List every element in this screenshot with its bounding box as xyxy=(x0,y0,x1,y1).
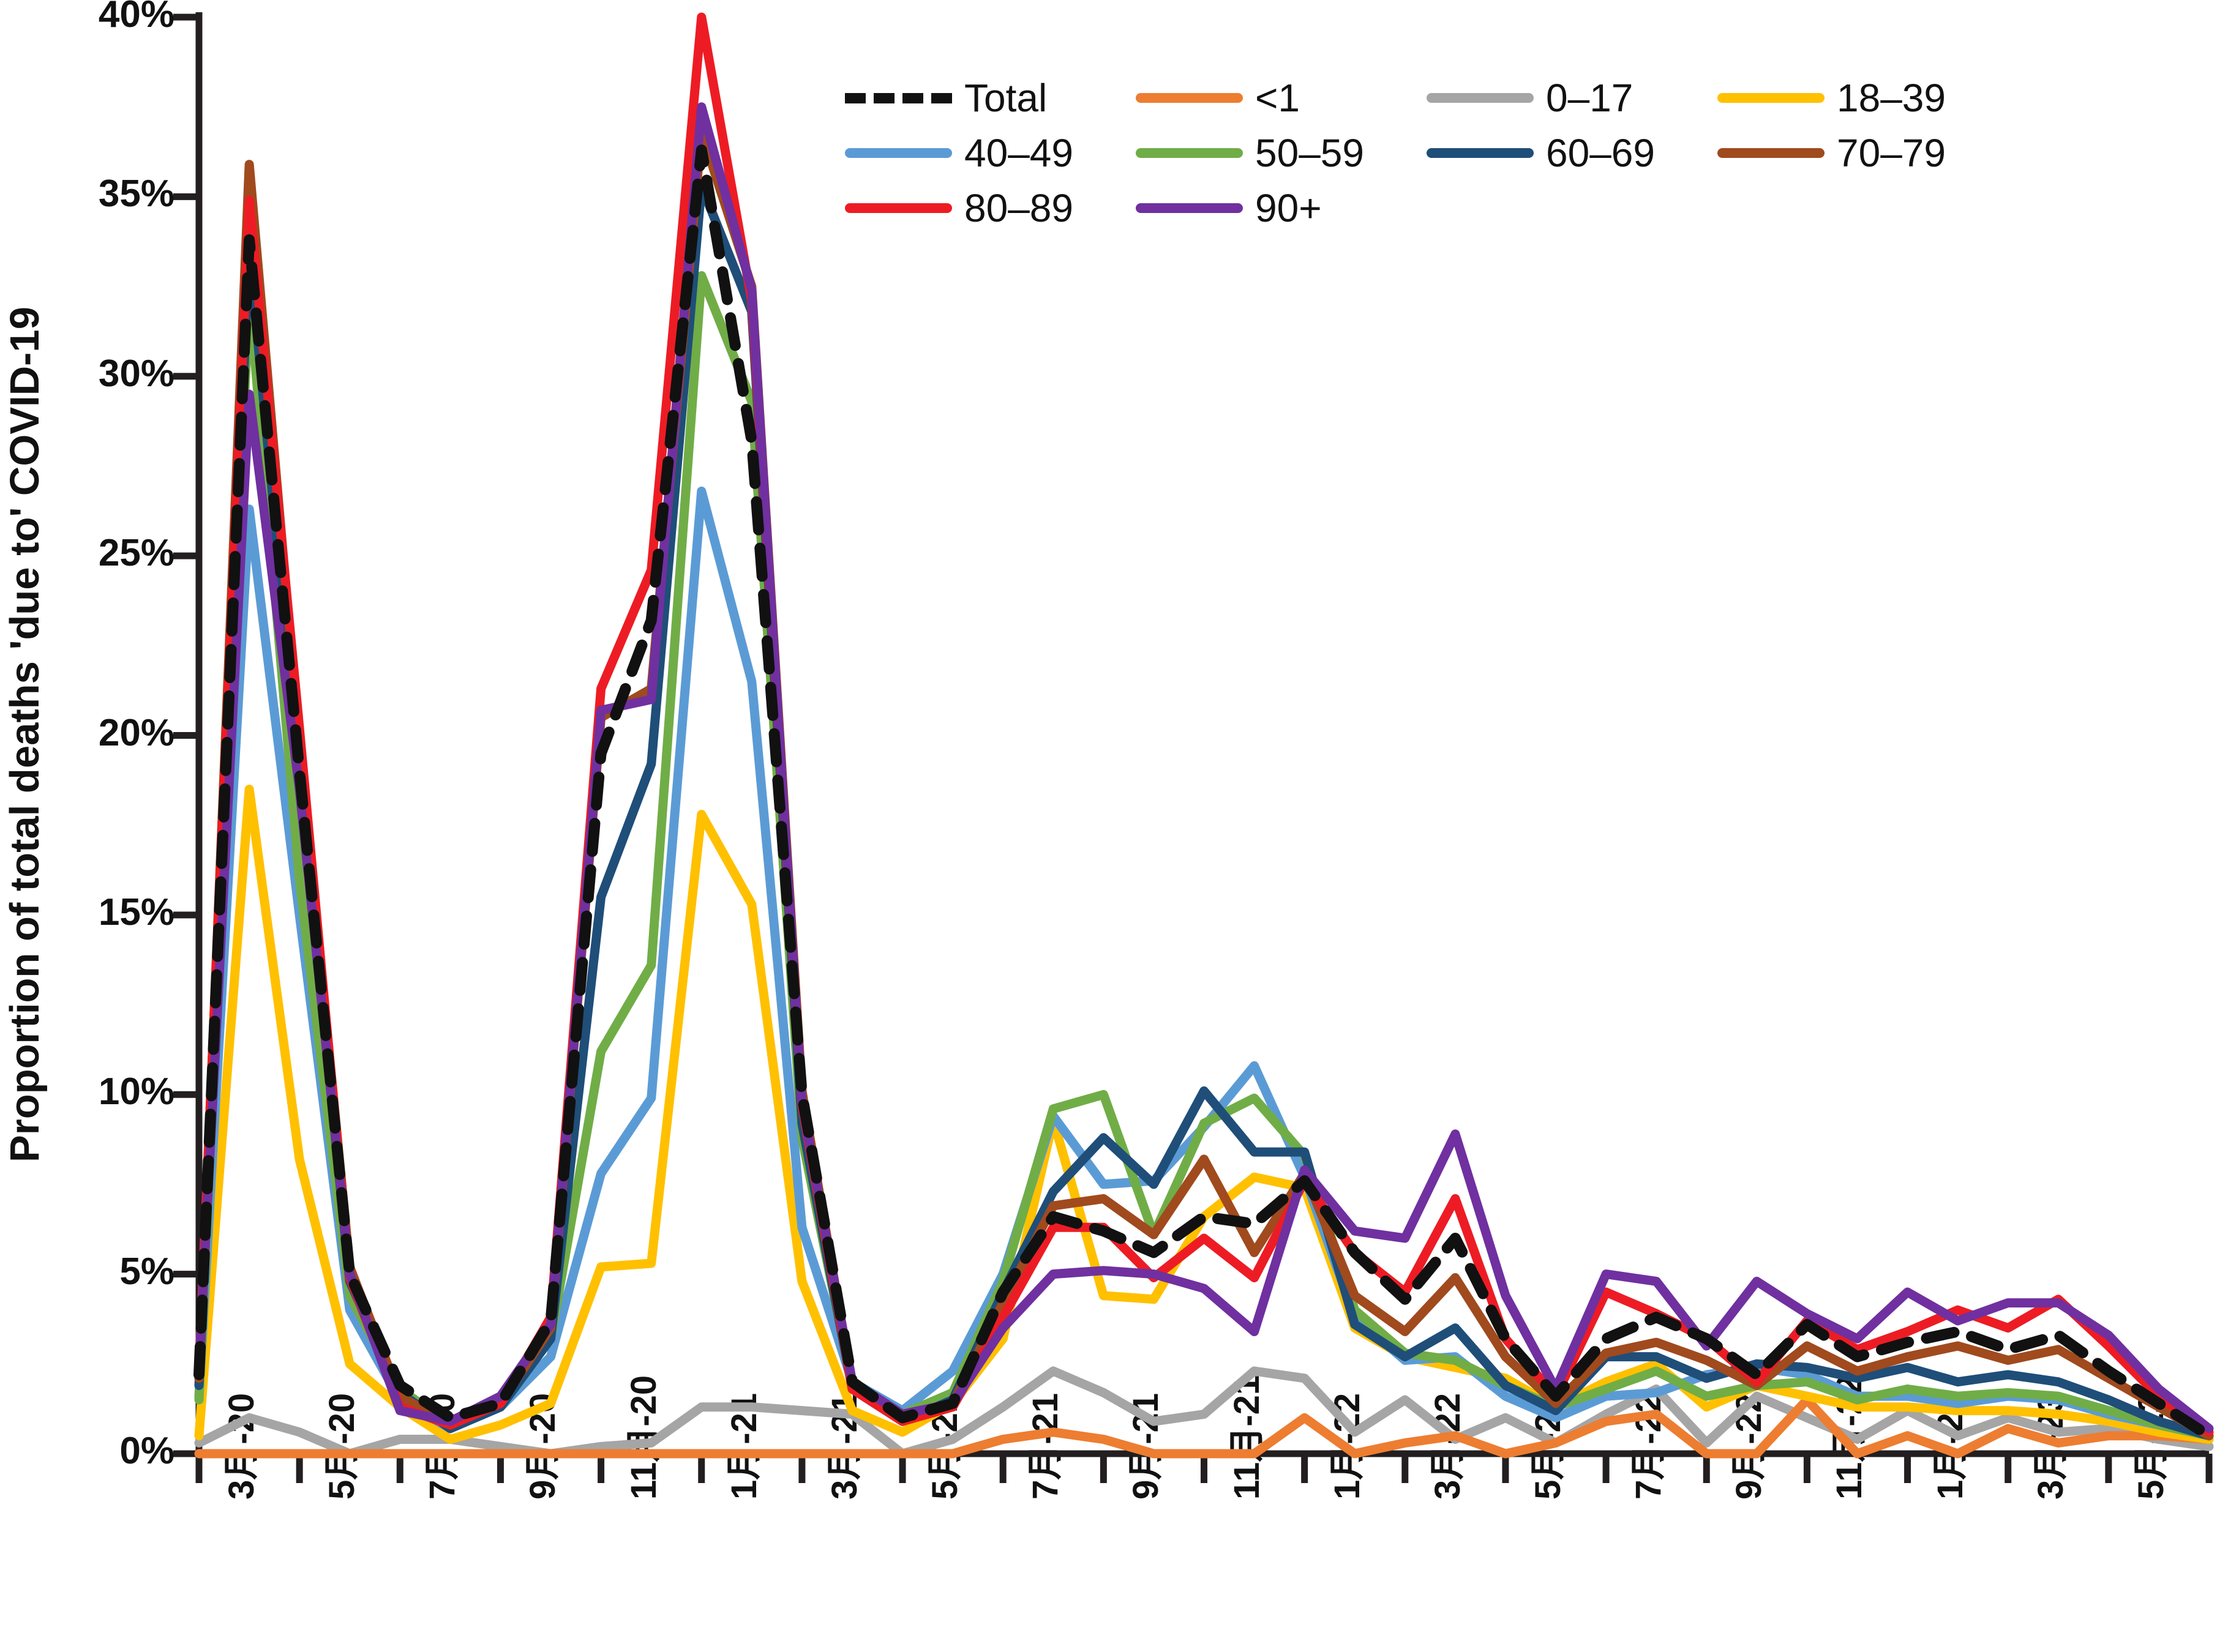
legend-label: 40–49 xyxy=(964,133,1073,173)
legend-swatch-icon xyxy=(1717,148,1825,158)
legend-label: 80–89 xyxy=(964,189,1073,228)
legend-swatch-icon xyxy=(1136,203,1243,213)
legend-swatch-icon xyxy=(1717,93,1825,103)
legend-swatch-icon xyxy=(845,203,952,213)
legend-label: 0–17 xyxy=(1546,78,1633,118)
legend-item[interactable]: 80–89 xyxy=(845,189,1136,228)
series-line-0-17 xyxy=(199,1371,2209,1454)
legend-label: 18–39 xyxy=(1837,78,1946,118)
legend-swatch-icon xyxy=(1427,93,1534,103)
legend-swatch-icon xyxy=(1136,148,1243,158)
legend-item[interactable]: 50–59 xyxy=(1136,133,1427,173)
legend-swatch-icon xyxy=(1427,148,1534,158)
legend-label: 90+ xyxy=(1255,189,1322,228)
line-plot xyxy=(0,0,2228,1652)
chart-canvas: Proportion of total deaths 'due to' COVI… xyxy=(0,0,2228,1652)
legend-swatch-icon xyxy=(845,148,952,158)
legend-item[interactable]: 18–39 xyxy=(1717,78,2008,118)
legend-label: 70–79 xyxy=(1837,133,1946,173)
legend-swatch-icon xyxy=(1136,93,1243,103)
legend-item[interactable]: 40–49 xyxy=(845,133,1136,173)
legend-swatch-icon xyxy=(845,93,952,103)
series-line-50-59 xyxy=(199,276,2209,1436)
legend-item[interactable]: <1 xyxy=(1136,78,1427,118)
legend-label: 60–69 xyxy=(1546,133,1655,173)
legend-label: Total xyxy=(964,78,1047,118)
legend-item[interactable]: 70–79 xyxy=(1717,133,2008,173)
legend-label: <1 xyxy=(1255,78,1300,118)
legend-item[interactable]: 0–17 xyxy=(1427,78,1717,118)
legend-label: 50–59 xyxy=(1255,133,1364,173)
legend-item[interactable]: 90+ xyxy=(1136,189,1427,228)
legend-item[interactable]: Total xyxy=(845,78,1136,118)
legend-item[interactable]: 60–69 xyxy=(1427,133,1717,173)
legend: Total<10–1718–3940–4950–5960–6970–7980–8… xyxy=(845,70,2008,236)
series-line-60-69 xyxy=(199,186,2209,1436)
series-line-90+ xyxy=(199,107,2209,1429)
